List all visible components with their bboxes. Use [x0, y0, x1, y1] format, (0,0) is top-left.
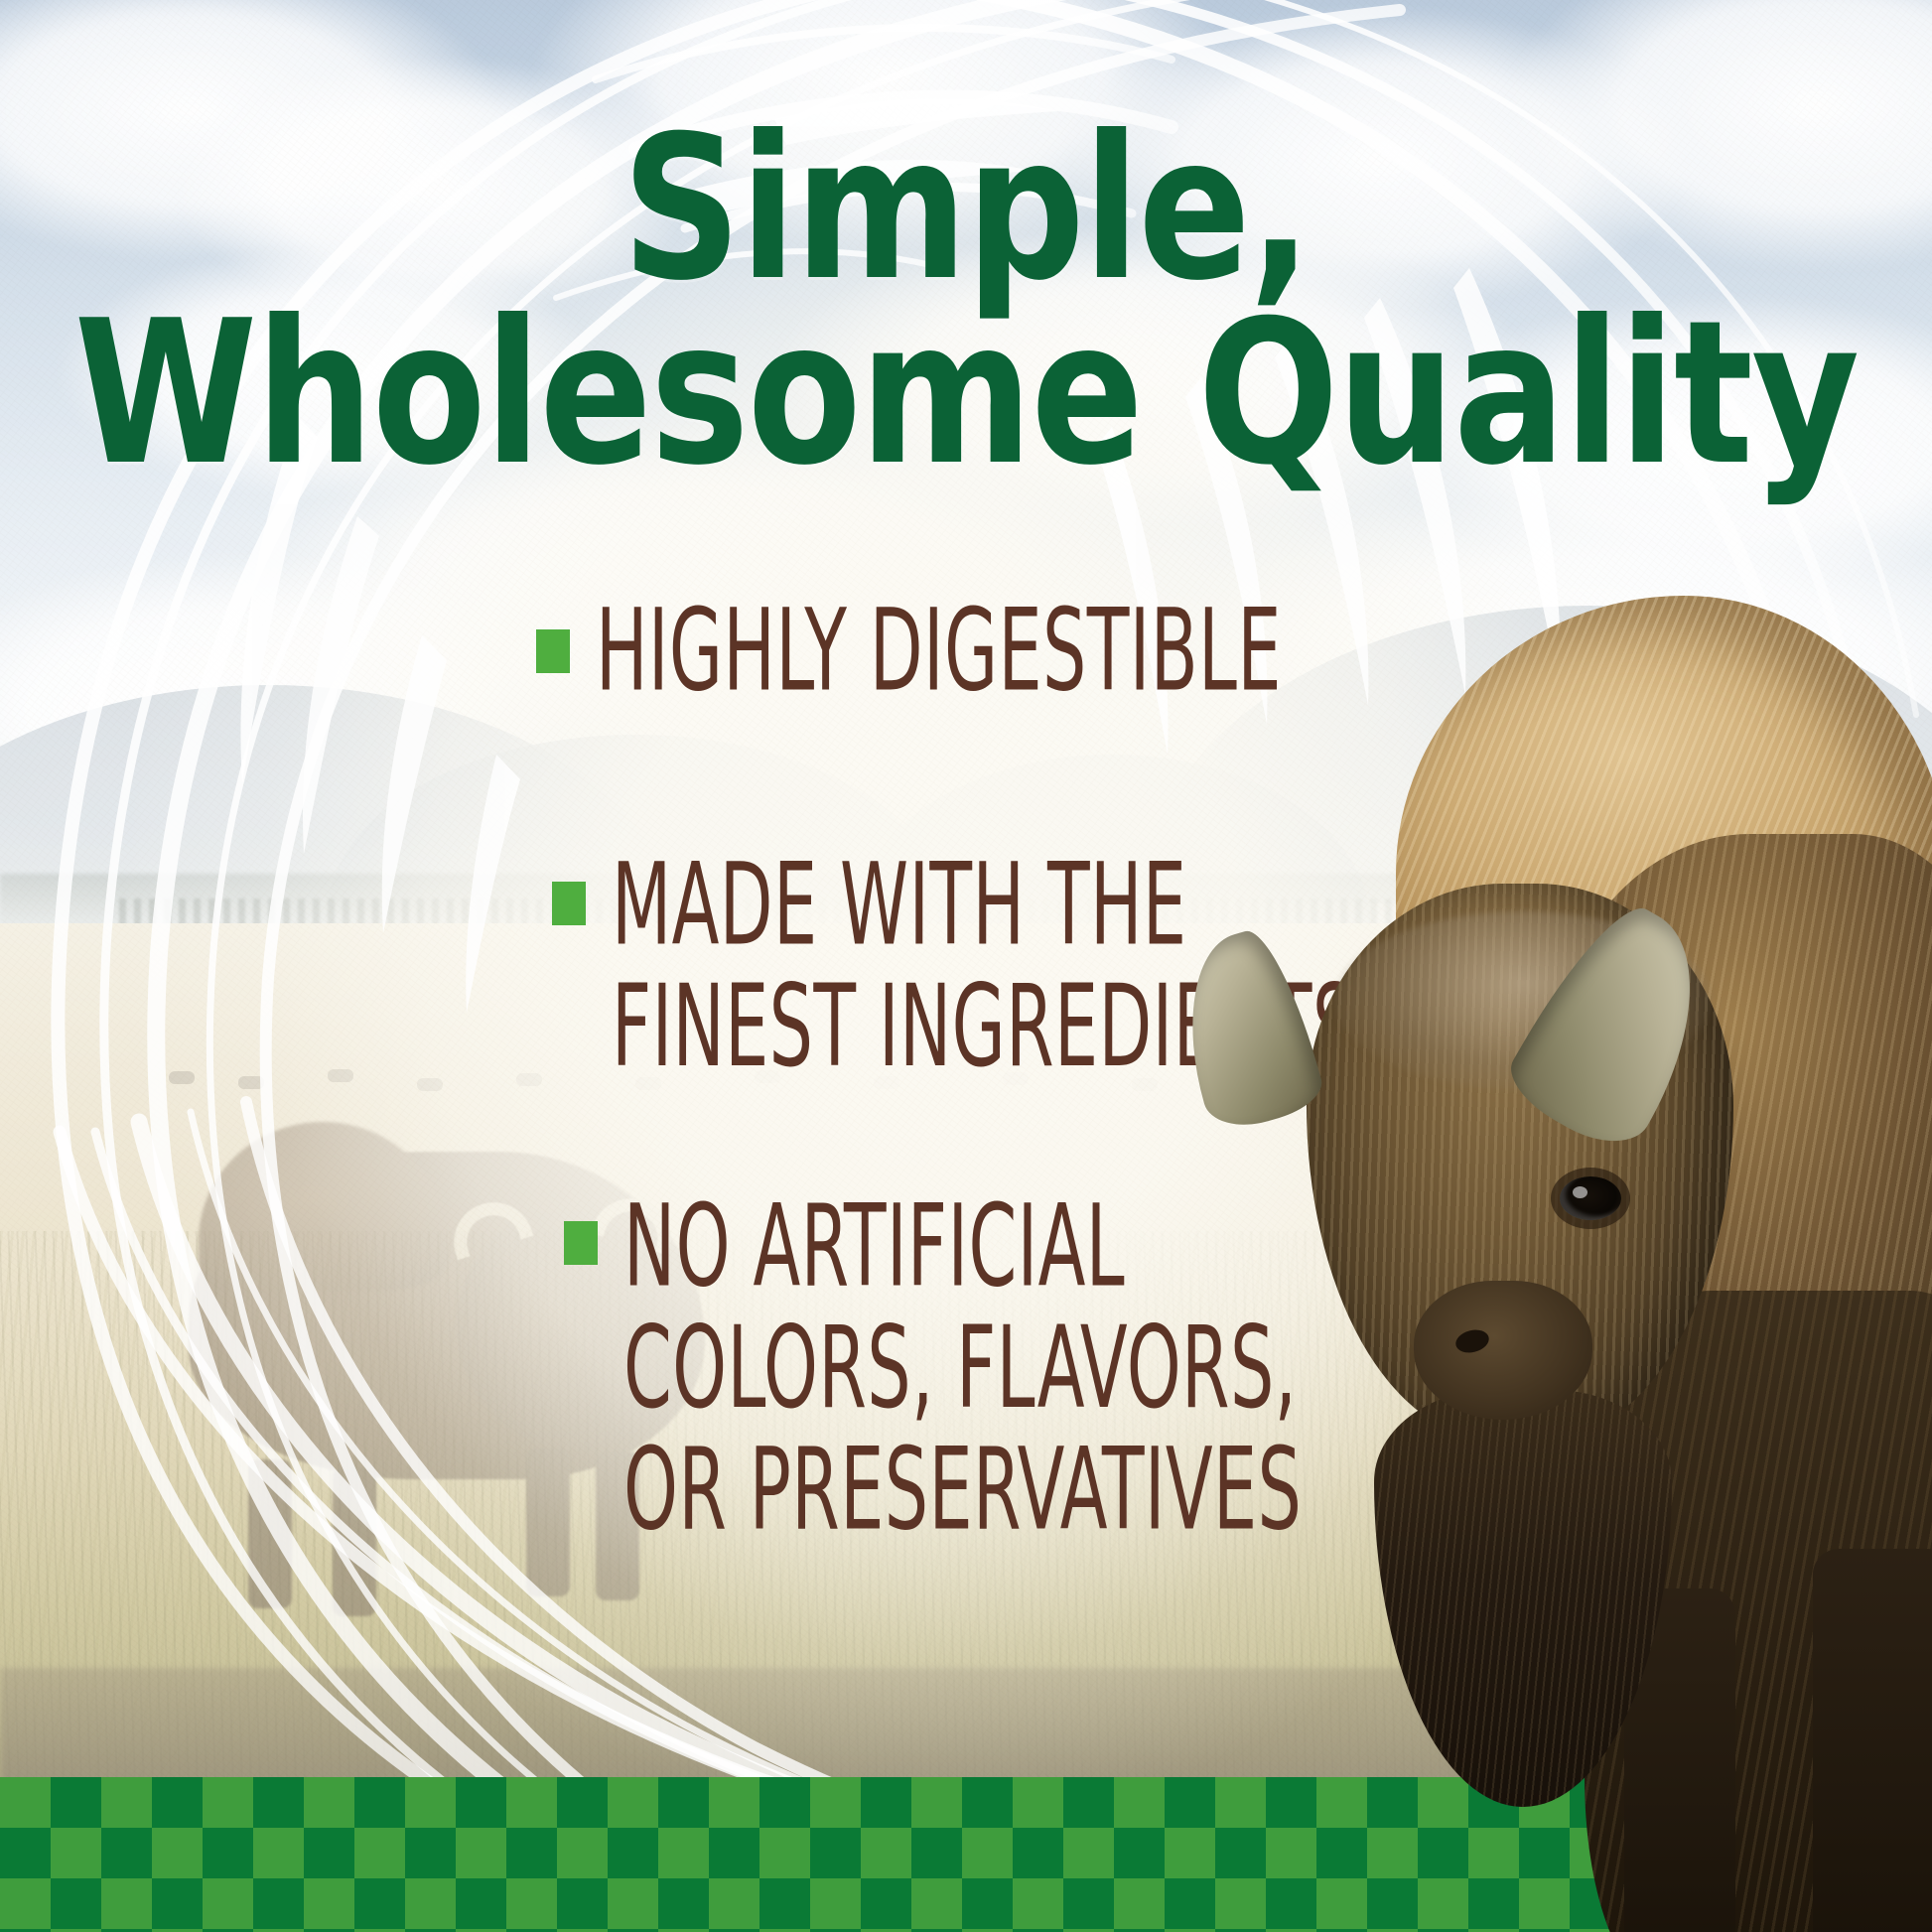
green-square-bullet-icon: [564, 1221, 598, 1265]
bison-muzzle: [1414, 1281, 1592, 1420]
bison-eye: [1560, 1176, 1621, 1220]
green-square-bullet-icon: [552, 882, 586, 925]
headline-line-2: Wholesome Quality: [68, 302, 1864, 486]
bison-photo: [1158, 596, 1932, 1932]
green-square-bullet-icon: [536, 629, 570, 673]
bison-rear-leg: [1813, 1549, 1932, 1932]
bison-horn-left: [1162, 922, 1328, 1137]
poster-canvas: Simple, Wholesome Quality HIGHLY DIGESTI…: [0, 0, 1932, 1932]
page-title: Simple, Wholesome Quality: [68, 117, 1864, 486]
